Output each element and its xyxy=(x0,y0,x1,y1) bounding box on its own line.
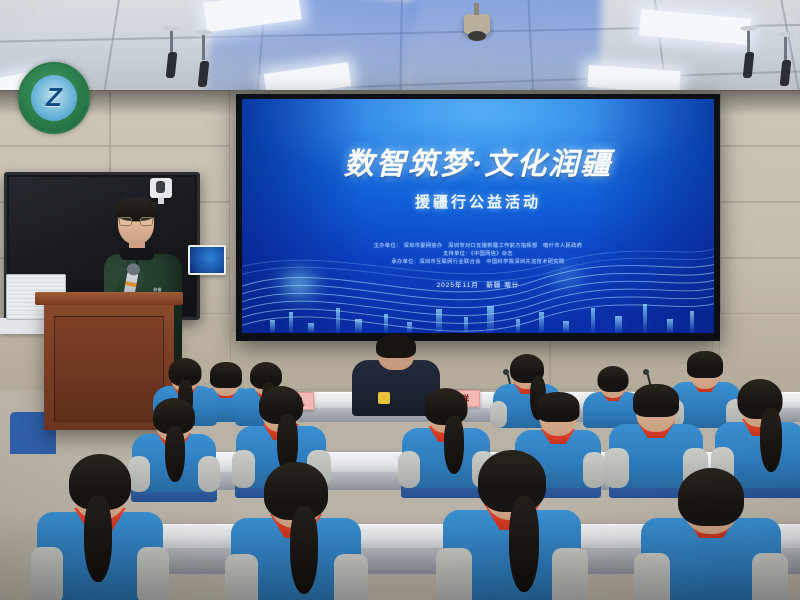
student-sleeve xyxy=(752,553,788,600)
student-hair xyxy=(478,450,546,512)
led-screen: 数智筑梦·文化润疆 援疆行公益活动 主办单位： 深圳市委网信办 深圳市对口支援新… xyxy=(242,99,714,333)
microphone-band xyxy=(125,281,137,287)
wall-camera-icon xyxy=(150,178,172,198)
student xyxy=(226,462,366,600)
student-sleeve xyxy=(436,548,472,600)
student xyxy=(636,470,786,600)
podium-top xyxy=(35,292,183,305)
ceiling xyxy=(0,0,800,96)
student-hair xyxy=(678,468,744,526)
student-hair xyxy=(537,392,580,422)
student-sleeve xyxy=(583,452,605,488)
ceiling-hanging-microphone xyxy=(747,30,750,52)
slide-credit-line: 承办单位：深圳市互联网行业联合会 中国科学院深圳先进技术研究院 xyxy=(242,258,714,266)
student-sleeve xyxy=(398,451,421,488)
slide-date-location: 2025年11月 新疆·喀什 xyxy=(242,279,714,289)
eyeglasses-icon xyxy=(119,217,153,226)
classroom-scene: 数智筑梦·文化润疆 援疆行公益活动 主办单位： 深圳市委网信办 深圳市对口支援新… xyxy=(0,0,800,600)
slide-title: 数智筑梦·文化润疆 xyxy=(242,139,714,183)
student-sleeve xyxy=(31,547,64,600)
slide-credit-line: 支持单位：《中国网信》杂志 xyxy=(242,250,714,258)
student-sleeve xyxy=(137,547,170,600)
ceiling-projector xyxy=(464,14,490,34)
student-ponytail xyxy=(509,496,539,592)
wall-control-panel[interactable] xyxy=(188,245,226,275)
ceiling-blue-reflection-2 xyxy=(408,0,602,96)
student-hair xyxy=(633,384,679,417)
student-sleeve xyxy=(225,554,259,600)
adult-hair xyxy=(376,334,416,358)
emblem-letter: Z xyxy=(46,82,62,113)
ceiling-hanging-microphone xyxy=(784,36,787,60)
student-sleeve xyxy=(604,448,628,488)
student-hair xyxy=(687,351,723,378)
speaker-collar xyxy=(120,248,154,260)
adult-badge xyxy=(378,392,390,404)
student-sleeve xyxy=(198,456,220,492)
student-sleeve xyxy=(634,553,670,600)
student-ponytail xyxy=(84,496,112,582)
slide-credits: 主办单位： 深圳市委网信办 深圳市对口支援新疆工作前方指挥部 喀什市人民政府 支… xyxy=(242,242,714,266)
student-ponytail xyxy=(290,506,318,594)
student-ponytail xyxy=(760,408,782,472)
ceiling-hanging-microphone xyxy=(170,30,173,52)
slide-credit-line: 主办单位： 深圳市委网信办 深圳市对口支援新疆工作前方指挥部 喀什市人民政府 xyxy=(242,242,714,250)
student-sleeve xyxy=(334,554,368,600)
camera-lens-icon xyxy=(156,181,165,193)
student-sleeve xyxy=(552,548,588,600)
student-hair xyxy=(425,388,468,425)
led-screen-frame: 数智筑梦·文化润疆 援疆行公益活动 主办单位： 深圳市委网信办 深圳市对口支援新… xyxy=(236,94,720,341)
student xyxy=(32,452,168,600)
student xyxy=(438,450,586,600)
school-emblem: Z xyxy=(18,62,90,134)
slide-subtitle: 援疆行公益活动 xyxy=(242,191,714,212)
ceiling-hanging-microphone xyxy=(202,34,205,60)
wall-panel-screen xyxy=(190,247,224,273)
